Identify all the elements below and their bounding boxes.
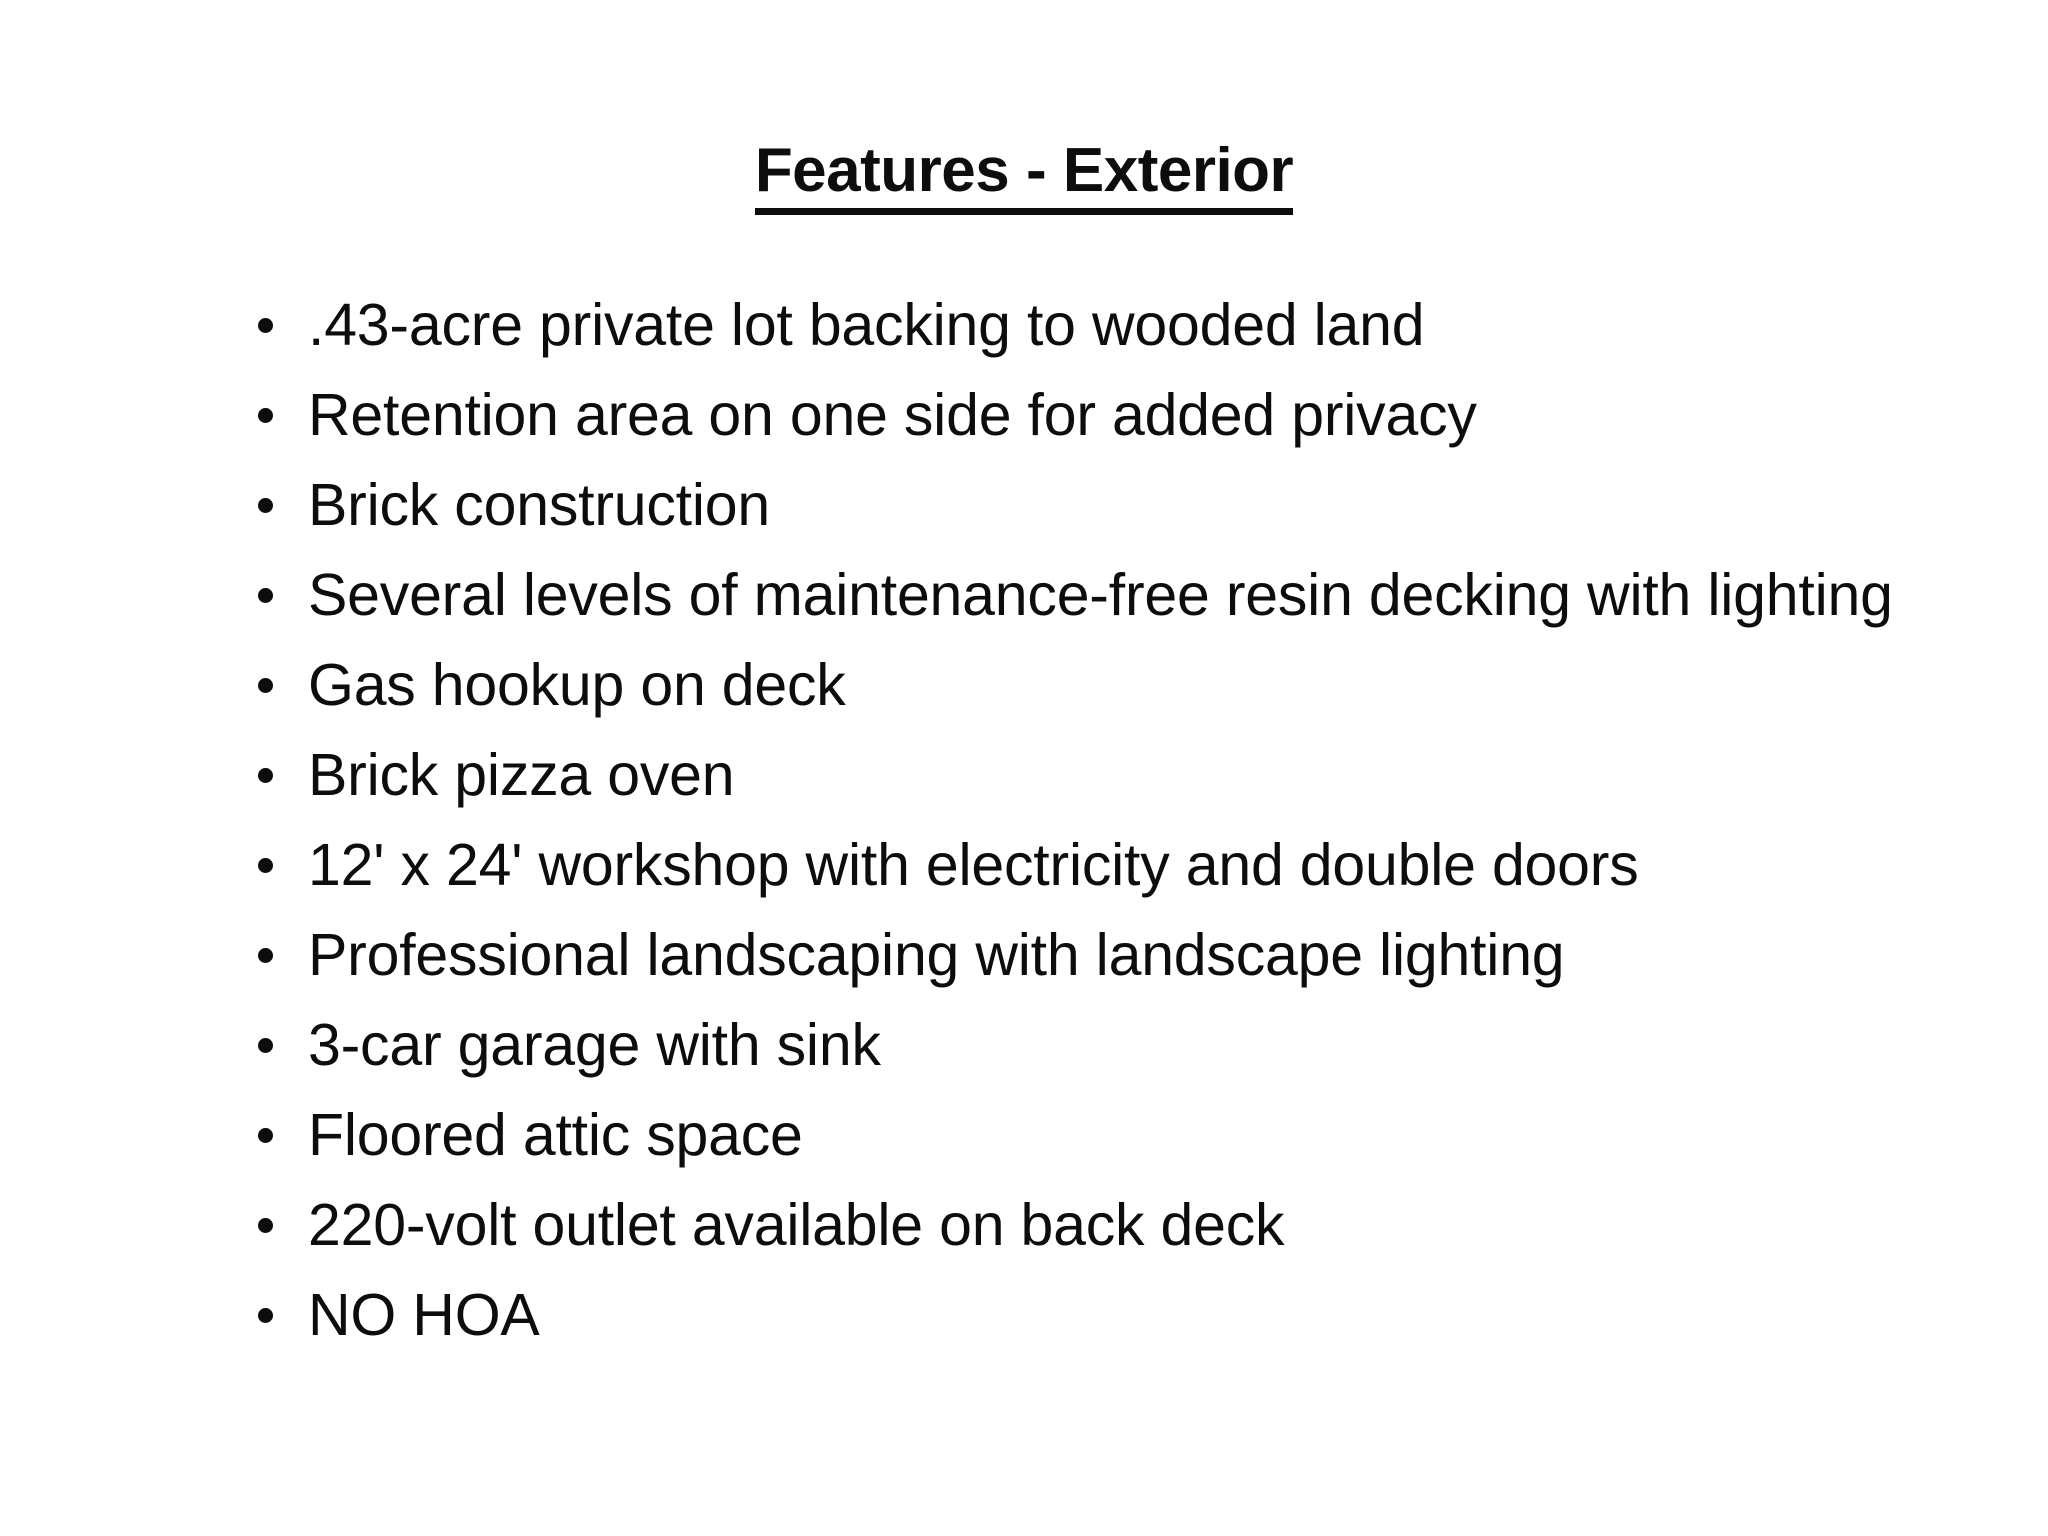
bullet-point-icon [258, 678, 273, 693]
list-item-label: Gas hookup on deck [308, 640, 1958, 730]
bullet-point-icon [258, 858, 273, 873]
list-item: 220-volt outlet available on back deck [258, 1180, 1958, 1270]
list-item: Professional landscaping with landscape … [258, 910, 1958, 1000]
list-item: Retention area on one side for added pri… [258, 370, 1958, 460]
bullet-point-icon [258, 1308, 273, 1323]
list-item: 3-car garage with sink [258, 1000, 1958, 1090]
list-item-label: Professional landscaping with landscape … [308, 910, 1958, 1000]
list-item-label: 220-volt outlet available on back deck [308, 1180, 1958, 1270]
list-item-label: 3-car garage with sink [308, 1000, 1958, 1090]
list-item: Brick pizza oven [258, 730, 1958, 820]
list-item: 12' x 24' workshop with electricity and … [258, 820, 1958, 910]
exterior-features-list: .43-acre private lot backing to wooded l… [258, 280, 1958, 1360]
page-title: Features - Exterior [755, 138, 1293, 216]
bullet-point-icon [258, 1218, 273, 1233]
list-item: NO HOA [258, 1270, 1958, 1360]
bullet-point-icon [258, 588, 273, 603]
bullet-point-icon [258, 498, 273, 513]
list-item: .43-acre private lot backing to wooded l… [258, 280, 1958, 370]
bullet-point-icon [258, 1128, 273, 1143]
list-item-label: 12' x 24' workshop with electricity and … [308, 820, 1958, 910]
list-item: Floored attic space [258, 1090, 1958, 1180]
list-item-label: NO HOA [308, 1270, 1958, 1360]
list-item-label: Several levels of maintenance-free resin… [308, 550, 1958, 640]
list-item: Several levels of maintenance-free resin… [258, 550, 1958, 640]
bullet-point-icon [258, 768, 273, 783]
bullet-point-icon [258, 408, 273, 423]
bullet-point-icon [258, 948, 273, 963]
list-item-label: Floored attic space [308, 1090, 1958, 1180]
slide-canvas: Features - Exterior .43-acre private lot… [0, 0, 2048, 1536]
slide-title-container: Features - Exterior [0, 96, 2048, 257]
bullet-point-icon [258, 1038, 273, 1053]
list-item-label: Brick pizza oven [308, 730, 1958, 820]
list-item-label: .43-acre private lot backing to wooded l… [308, 280, 1958, 370]
bullet-point-icon [258, 318, 273, 333]
list-item: Brick construction [258, 460, 1958, 550]
list-item-label: Retention area on one side for added pri… [308, 370, 1958, 460]
list-item-label: Brick construction [308, 460, 1958, 550]
list-item: Gas hookup on deck [258, 640, 1958, 730]
